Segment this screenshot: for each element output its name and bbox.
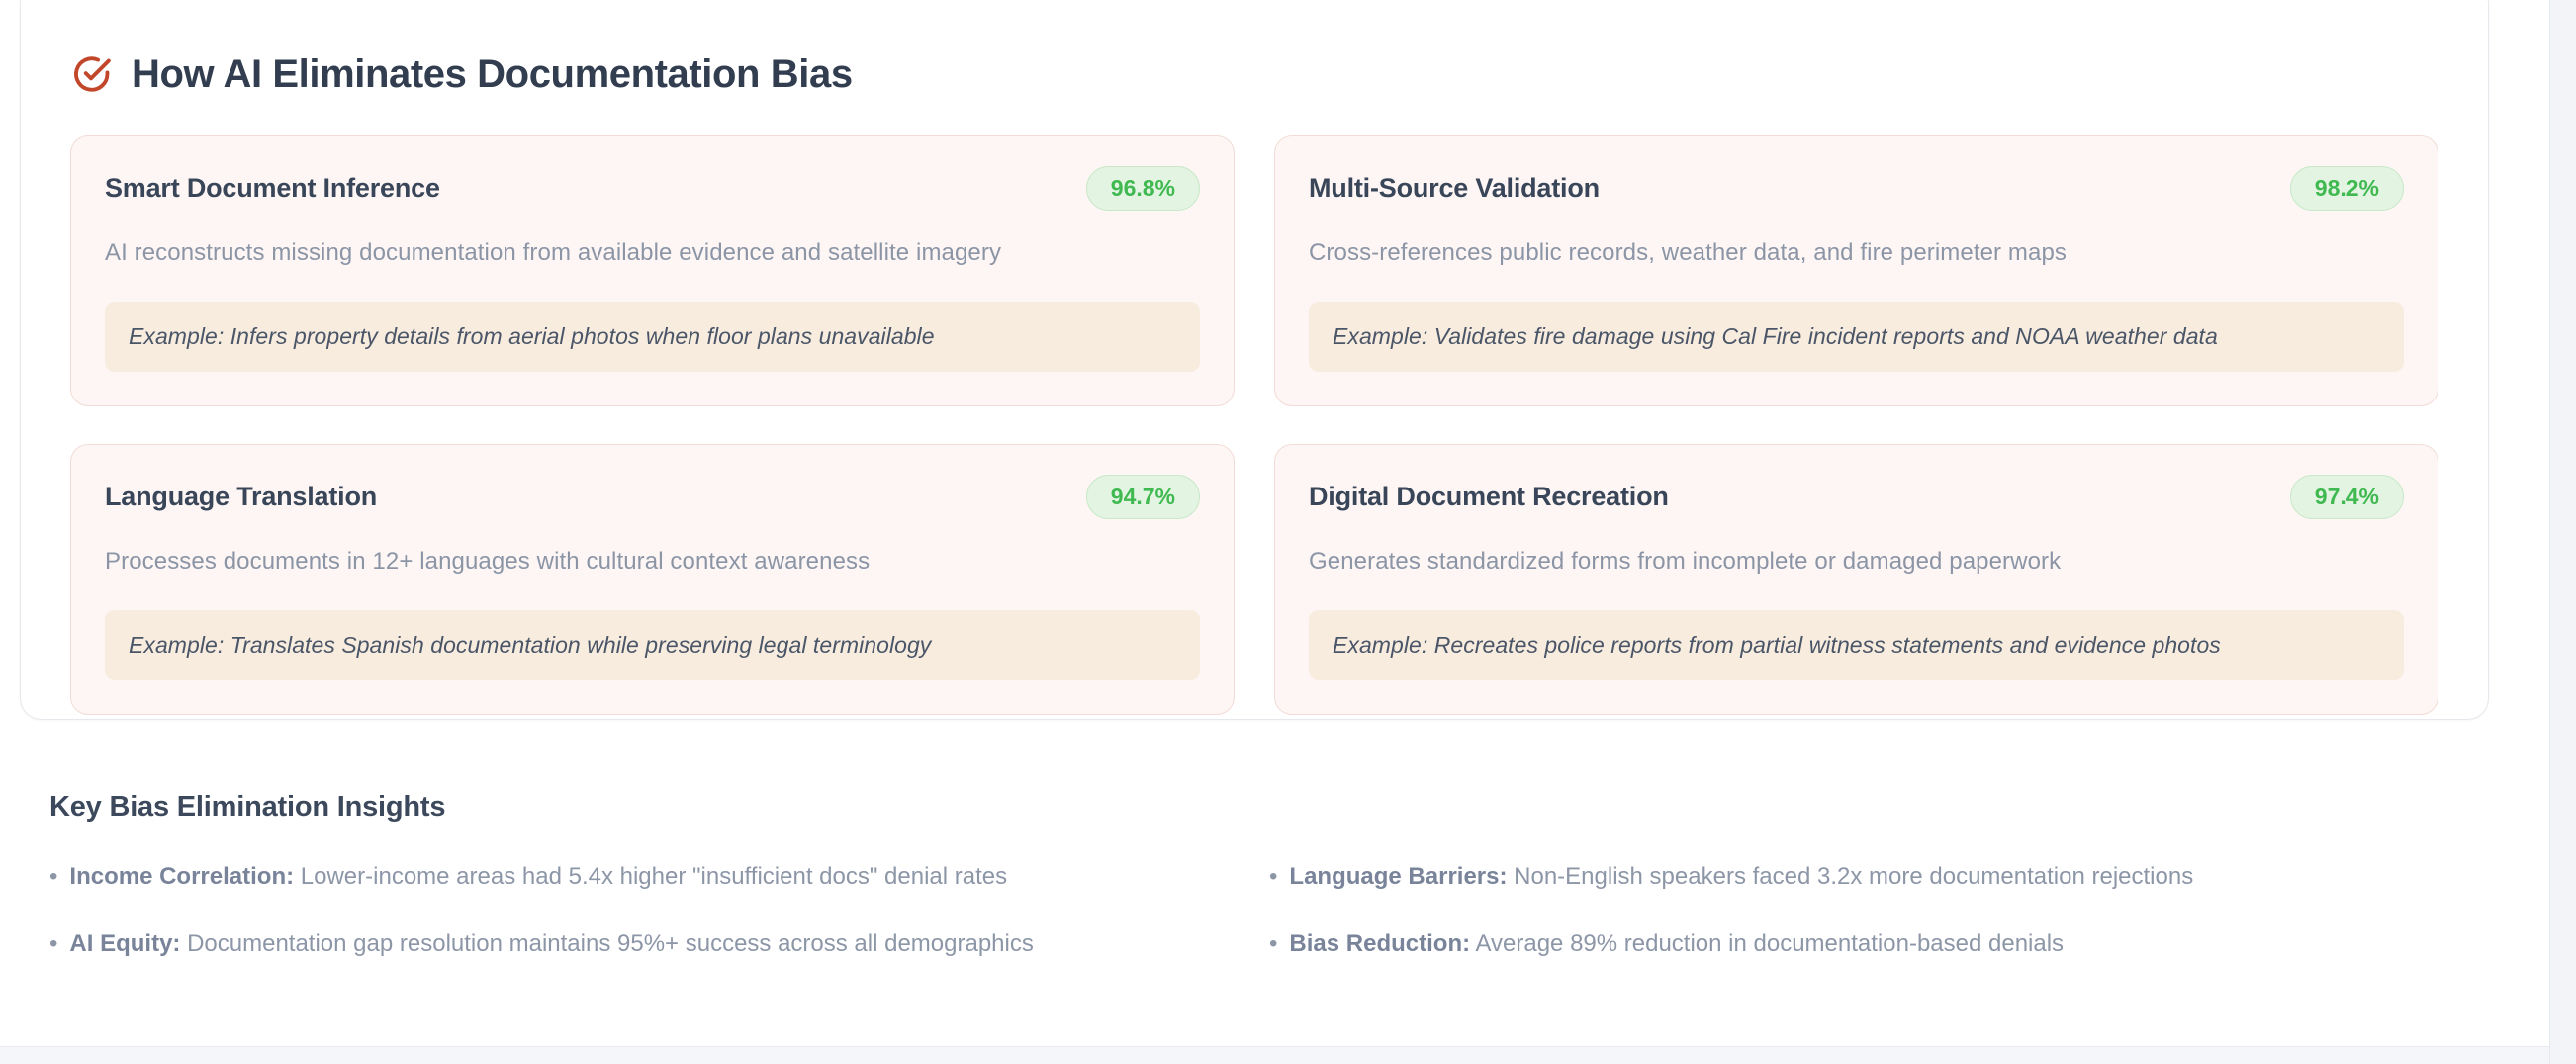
insight-value: Lower-income areas had 5.4x higher "insu… — [301, 863, 1007, 890]
feature-card[interactable]: Multi-Source Validation 98.2% Cross-refe… — [1274, 135, 2438, 406]
documentation-bias-panel: How AI Eliminates Documentation Bias Sma… — [20, 0, 2489, 720]
insight-label: AI Equity: — [69, 931, 180, 957]
card-title: Digital Document Recreation — [1309, 481, 1669, 514]
card-description: AI reconstructs missing documentation fr… — [105, 236, 1200, 270]
panel-header: How AI Eliminates Documentation Bias — [70, 52, 2438, 96]
insight-item: • Income Correlation: Lower-income areas… — [49, 843, 1224, 911]
insight-body: Language Barriers: Non-English speakers … — [1289, 861, 2193, 893]
accuracy-badge: 94.7% — [1086, 475, 1200, 519]
insight-label: Language Barriers: — [1289, 863, 1507, 890]
bullet-icon: • — [49, 932, 57, 956]
accuracy-badge: 96.8% — [1086, 166, 1200, 211]
insight-label: Income Correlation: — [69, 863, 294, 890]
insight-value: Documentation gap resolution maintains 9… — [187, 931, 1034, 957]
bottom-strip — [0, 1047, 2549, 1064]
card-header: Language Translation 94.7% — [105, 475, 1200, 519]
insight-label: Bias Reduction: — [1289, 931, 1470, 957]
card-title: Language Translation — [105, 481, 377, 514]
feature-card[interactable]: Language Translation 94.7% Processes doc… — [70, 444, 1235, 715]
card-header: Multi-Source Validation 98.2% — [1309, 166, 2404, 211]
card-title: Multi-Source Validation — [1309, 172, 1600, 206]
insights-title: Key Bias Elimination Insights — [49, 791, 2443, 824]
card-description: Generates standardized forms from incomp… — [1309, 545, 2404, 578]
page-title: How AI Eliminates Documentation Bias — [132, 52, 853, 96]
insight-body: Income Correlation: Lower-income areas h… — [69, 861, 1007, 893]
card-example: Example: Translates Spanish documentatio… — [105, 610, 1200, 680]
insight-value: Average 89% reduction in documentation-b… — [1475, 931, 2064, 957]
accuracy-badge: 97.4% — [2290, 475, 2404, 519]
insight-item: • Bias Reduction: Average 89% reduction … — [1269, 911, 2443, 978]
insight-body: AI Equity: Documentation gap resolution … — [69, 929, 1033, 960]
key-insights-section: Key Bias Elimination Insights • Income C… — [49, 791, 2443, 979]
circle-check-icon — [70, 53, 112, 95]
insights-grid: • Income Correlation: Lower-income areas… — [49, 843, 2443, 979]
card-description: Processes documents in 12+ languages wit… — [105, 545, 1200, 578]
accuracy-badge: 98.2% — [2290, 166, 2404, 211]
card-example: Example: Validates fire damage using Cal… — [1309, 302, 2404, 372]
bullet-icon: • — [1269, 932, 1277, 956]
insight-item: • Language Barriers: Non-English speaker… — [1269, 843, 2443, 911]
insight-item: • AI Equity: Documentation gap resolutio… — [49, 911, 1224, 978]
insight-value: Non-English speakers faced 3.2x more doc… — [1514, 863, 2193, 890]
bullet-icon: • — [49, 865, 57, 889]
feature-card-grid: Smart Document Inference 96.8% AI recons… — [70, 135, 2438, 715]
feature-card[interactable]: Digital Document Recreation 97.4% Genera… — [1274, 444, 2438, 715]
content-column: How AI Eliminates Documentation Bias Sma… — [0, 0, 2549, 1064]
card-description: Cross-references public records, weather… — [1309, 236, 2404, 270]
card-header: Digital Document Recreation 97.4% — [1309, 475, 2404, 519]
feature-card[interactable]: Smart Document Inference 96.8% AI recons… — [70, 135, 1235, 406]
card-title: Smart Document Inference — [105, 172, 440, 206]
vertical-scrollbar[interactable] — [2549, 0, 2576, 1064]
card-header: Smart Document Inference 96.8% — [105, 166, 1200, 211]
card-example: Example: Recreates police reports from p… — [1309, 610, 2404, 680]
bullet-icon: • — [1269, 865, 1277, 889]
insight-body: Bias Reduction: Average 89% reduction in… — [1289, 929, 2064, 960]
card-example: Example: Infers property details from ae… — [105, 302, 1200, 372]
page-root: How AI Eliminates Documentation Bias Sma… — [0, 0, 2576, 1064]
